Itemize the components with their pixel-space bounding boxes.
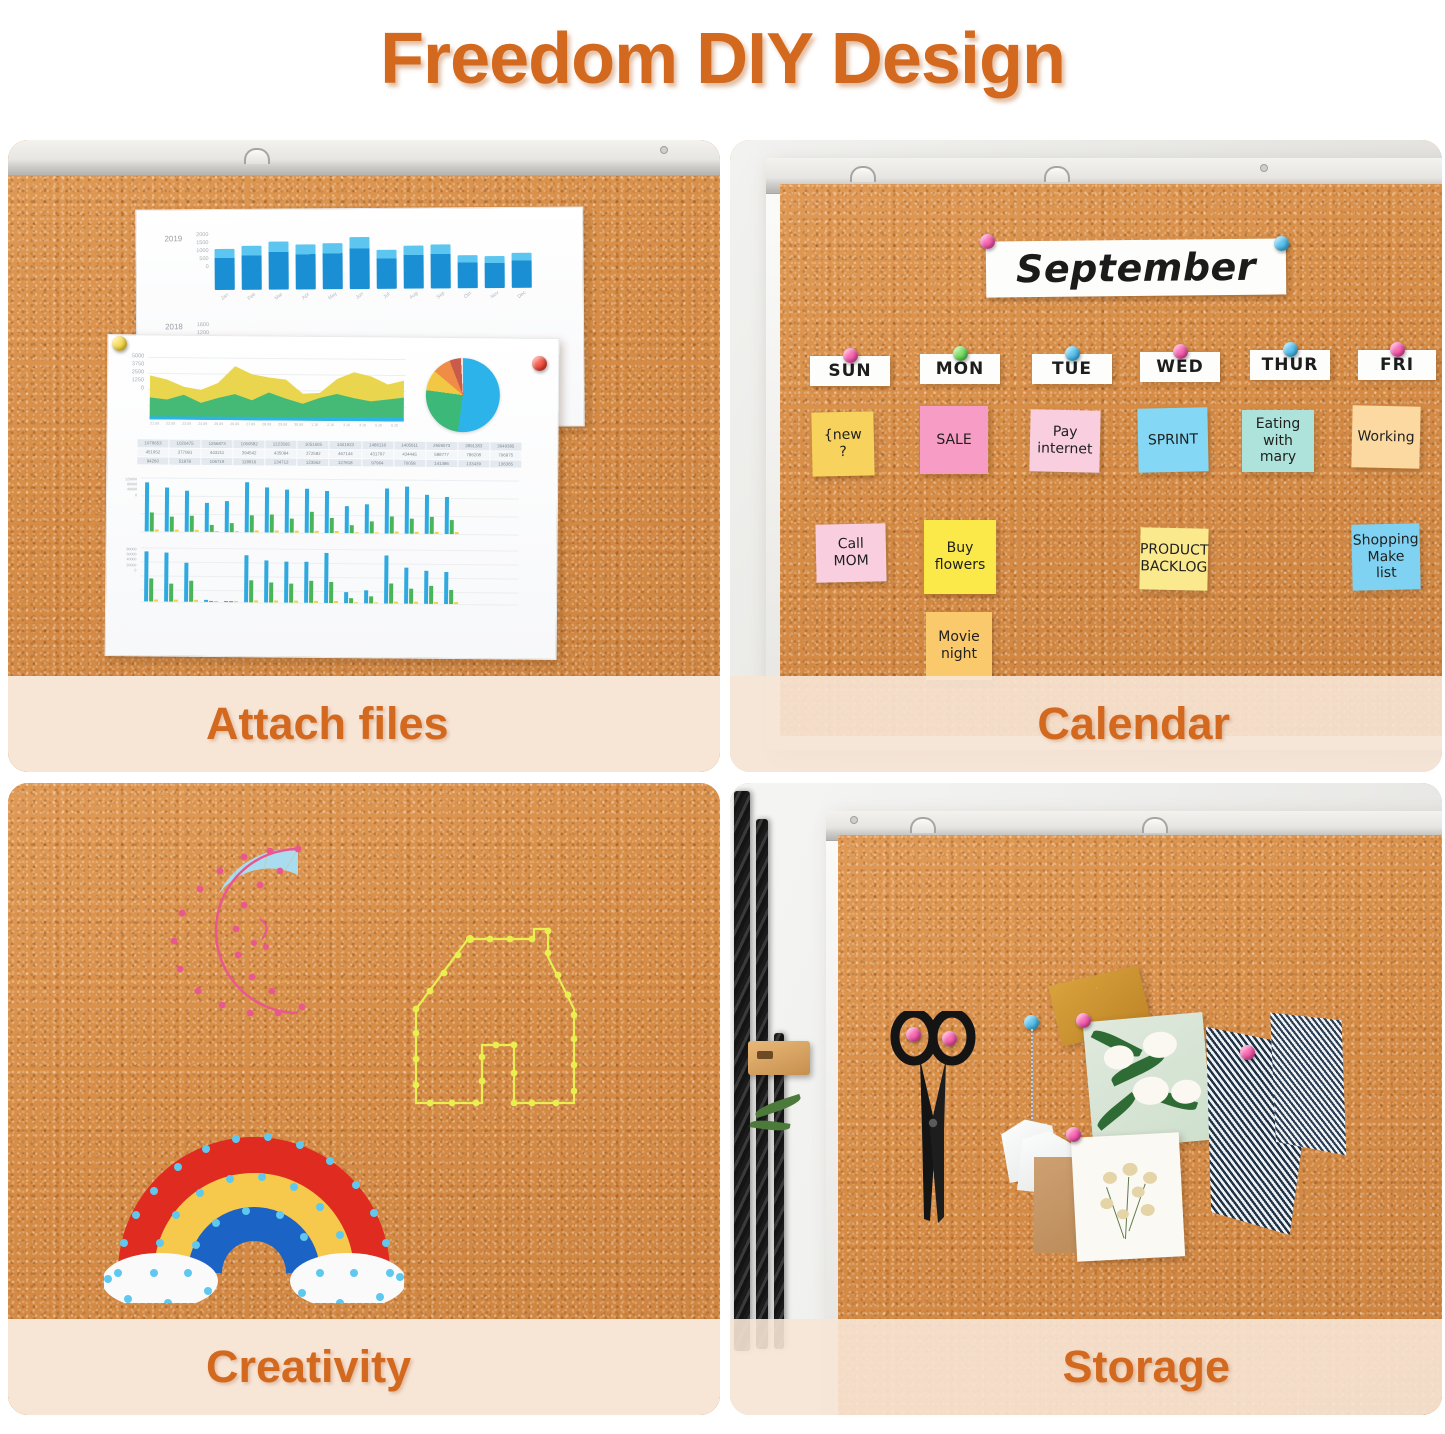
- bar-yellow: [274, 600, 278, 602]
- bar-group-21.09: [145, 482, 159, 531]
- note-line: Movie: [938, 629, 979, 646]
- bar-blue: [305, 489, 309, 533]
- bar-group-4.10: [404, 568, 418, 604]
- bar-green: [229, 601, 233, 602]
- frame-screw-icon: [850, 816, 858, 824]
- blue-pin[interactable]: [1283, 342, 1298, 357]
- bar-group-22.09: [165, 488, 179, 532]
- month-tick: Feb: [242, 288, 261, 305]
- bar-green: [270, 514, 274, 532]
- bar-yellow: [394, 602, 398, 604]
- table-cell: 786208: [458, 451, 489, 459]
- bar-group-27.09: [265, 487, 279, 532]
- house-string-art[interactable]: [406, 923, 586, 1123]
- bar-blue: [384, 555, 388, 603]
- note-line: SALE: [936, 432, 971, 449]
- bar-blue: [184, 563, 188, 602]
- table-cell: 127818: [330, 459, 361, 467]
- bar-yellow: [314, 601, 318, 603]
- bar-green: [389, 584, 393, 604]
- bar-green: [309, 581, 313, 603]
- bar-group-6.10: [445, 497, 459, 534]
- bar-yellow: [254, 600, 258, 603]
- bar-Mar: [268, 242, 288, 290]
- month-tick: Sep: [431, 287, 450, 304]
- bar-blue: [145, 482, 149, 531]
- table-cell: 2659073: [426, 442, 457, 450]
- month-tick: May: [323, 288, 342, 305]
- pink-pin[interactable]: [1076, 1013, 1091, 1028]
- bar-blue: [385, 488, 389, 533]
- bar-yellow: [395, 532, 399, 534]
- table-cell: 123562: [298, 458, 329, 466]
- table-cell: 394542: [234, 449, 265, 457]
- bar-blue: [285, 490, 289, 533]
- table-cell: 136365: [490, 460, 521, 468]
- hanging-clip-icon: [1044, 166, 1070, 182]
- blue-pin[interactable]: [1024, 1015, 1039, 1030]
- note-line: SPRINT: [1148, 431, 1199, 449]
- sticky-note[interactable]: {new?: [811, 411, 874, 476]
- table-cell: 467144: [330, 450, 361, 458]
- bar-group-24.09: [205, 503, 219, 532]
- table-cell: 106719: [201, 457, 232, 465]
- sticky-note[interactable]: ShoppingMake list: [1351, 523, 1420, 590]
- bar-green: [169, 584, 173, 602]
- pink-pin[interactable]: [1240, 1045, 1255, 1060]
- chart-2019-title: 2019: [164, 234, 182, 243]
- bar-group-30.09: [325, 491, 339, 533]
- bar-green: [310, 512, 314, 533]
- month-tick: Jun: [350, 287, 369, 304]
- table-cell: 2891283: [458, 442, 489, 450]
- bar-blue: [345, 506, 349, 534]
- frame-screw-icon: [660, 146, 668, 154]
- bar-yellow: [195, 530, 199, 532]
- sticky-note[interactable]: SALE: [920, 406, 988, 474]
- month-title-card[interactable]: September: [986, 238, 1287, 297]
- bar-group-1.10: [344, 592, 358, 603]
- caption-text: Storage: [1062, 1341, 1230, 1393]
- bar-green: [330, 518, 334, 533]
- caption-storage: Storage: [730, 1319, 1442, 1415]
- bar-yellow: [255, 530, 259, 533]
- bar-blue: [264, 560, 268, 602]
- bar-green: [369, 596, 373, 603]
- note-line: internet: [1037, 440, 1093, 458]
- bar-group-21.09: [144, 551, 158, 601]
- caption-text: Calendar: [1037, 698, 1230, 750]
- bar-Oct: [458, 255, 478, 288]
- bar-green: [290, 519, 294, 533]
- bar-Dec: [512, 253, 532, 288]
- bar-blue: [164, 553, 168, 602]
- bar-yellow: [415, 532, 419, 534]
- table-cell: 134713: [266, 458, 297, 466]
- table-cell: 431797: [362, 450, 393, 458]
- bar-green: [190, 516, 194, 532]
- bar-yellow: [154, 599, 158, 602]
- sticky-note[interactable]: Eatingwith mary: [1242, 410, 1314, 472]
- table-cell: 1020475: [170, 440, 201, 448]
- table-cell: 1051505: [298, 441, 329, 449]
- month-tick: Aug: [404, 287, 423, 304]
- bar-yellow: [315, 530, 319, 533]
- bar-green: [429, 586, 433, 604]
- bar-yellow: [215, 530, 219, 532]
- chart-2018-title: 2018: [165, 322, 183, 331]
- bar-green: [189, 581, 193, 602]
- bar-yellow: [355, 532, 359, 534]
- bar-blue: [204, 600, 208, 602]
- bar-green: [329, 582, 333, 603]
- bar-Jul: [377, 250, 397, 289]
- bar-group-3.10: [384, 555, 398, 603]
- blue-pin[interactable]: [1274, 236, 1289, 251]
- month-tick: Mar: [269, 288, 288, 305]
- table-cell: 1050582: [234, 440, 265, 448]
- bar-yellow: [455, 532, 459, 534]
- table-cell: 1079653: [137, 439, 168, 447]
- table-cell: 451952: [137, 448, 168, 456]
- bar-group-28.09: [284, 562, 298, 603]
- bar-yellow: [374, 602, 378, 604]
- pink-pin[interactable]: [942, 1031, 957, 1046]
- note-line: ?: [839, 444, 847, 461]
- month-tick: Nov: [485, 286, 504, 303]
- bar-Jun: [349, 237, 369, 289]
- grouped-chart-b-yaxis: 800006000040000200000: [114, 547, 136, 573]
- sticky-note[interactable]: Payinternet: [1029, 409, 1100, 472]
- bar-yellow: [434, 602, 438, 604]
- bar-green: [370, 521, 374, 533]
- pink-pin[interactable]: [1173, 344, 1188, 359]
- caption-calendar: Calendar: [730, 676, 1442, 772]
- sticky-note[interactable]: Working: [1351, 405, 1420, 468]
- bar-group-23.09: [185, 491, 199, 532]
- table-cell: 377081: [169, 448, 200, 456]
- bar-yellow: [295, 531, 299, 533]
- bar-blue: [425, 495, 429, 534]
- hanging-clip-icon: [244, 148, 270, 164]
- caption-text: Attach files: [206, 698, 449, 750]
- bar-green: [289, 584, 293, 603]
- area-chart: [148, 353, 407, 421]
- document-analytics-report[interactable]: 50003750250012500 21.0922.09 23.0924.09 …: [105, 334, 560, 660]
- board-frame: September SUNMONTUEWEDTHURFRISA {new?SAL…: [766, 158, 1442, 750]
- header: Freedom DIY Design: [0, 0, 1445, 118]
- bar-yellow: [275, 531, 279, 533]
- bar-blue: [205, 503, 209, 532]
- chart-2019-yaxis: 2000150010005000: [184, 232, 208, 272]
- bar-green: [350, 525, 354, 533]
- bar-yellow: [235, 531, 239, 533]
- bar-group-5.10: [424, 571, 438, 604]
- table-cell: 1486118: [362, 441, 393, 449]
- caption-text: Creativity: [206, 1341, 411, 1393]
- bar-yellow: [354, 602, 358, 604]
- month-tick: Jan: [215, 288, 234, 305]
- bar-green: [230, 523, 234, 532]
- hanging-clip-icon: [1142, 817, 1168, 833]
- note-line: Buy: [947, 540, 974, 557]
- bar-blue: [404, 568, 408, 604]
- bar-green: [430, 517, 434, 534]
- hanging-clip-icon: [850, 166, 876, 182]
- note-line: night: [941, 646, 977, 663]
- chart-2019-bars: [214, 230, 531, 290]
- table-cell: 133439: [458, 460, 489, 468]
- bar-group-29.09: [305, 489, 319, 533]
- bar-blue: [144, 551, 148, 601]
- table-cell: 372582: [298, 449, 329, 457]
- pink-pin[interactable]: [906, 1027, 921, 1042]
- bar-green: [170, 517, 174, 532]
- bar-yellow: [435, 532, 439, 534]
- sticky-note[interactable]: CallMOM: [815, 523, 886, 582]
- table-cell: 434445: [394, 450, 425, 458]
- bar-green: [390, 517, 394, 534]
- yellow-pin[interactable]: [112, 336, 127, 351]
- note-line: Eating: [1256, 416, 1301, 433]
- analytics-table: 1079653102047512568731050582122356510515…: [137, 439, 521, 468]
- pink-pin[interactable]: [843, 348, 858, 363]
- bar-green: [349, 598, 353, 603]
- bar-Apr: [295, 245, 315, 290]
- panel-calendar[interactable]: September SUNMONTUEWEDTHURFRISA {new?SAL…: [730, 140, 1442, 772]
- scissors-icon[interactable]: [890, 1011, 976, 1241]
- note-line: flowers: [935, 557, 986, 574]
- bar-blue: [244, 555, 248, 602]
- bar-blue: [364, 590, 368, 603]
- pink-pin[interactable]: [980, 234, 995, 249]
- bar-Aug: [403, 246, 423, 289]
- bar-group-3.10: [385, 488, 399, 533]
- bar-blue: [324, 553, 328, 603]
- red-pin[interactable]: [532, 356, 547, 371]
- bar-blue: [424, 571, 428, 604]
- panel-attach-files[interactable]: 2019 2000150010005000 JanFebMarAprMayJun…: [8, 140, 720, 772]
- bar-yellow: [174, 600, 178, 602]
- bar-group-6.10: [444, 572, 458, 604]
- grouped-chart-b: [140, 547, 518, 606]
- bar-green: [210, 525, 214, 532]
- grouped-chart-a: [141, 477, 519, 536]
- bar-green: [250, 515, 254, 532]
- bar-group-24.09: [204, 600, 218, 602]
- area-chart-xaxis: 21.0922.09 23.0924.09 25.0926.09 27.0928…: [148, 421, 402, 427]
- moon-string-art[interactable]: [148, 831, 348, 1031]
- chart-2019-xaxis: JanFebMarAprMayJunJulAugSepOctNovDec: [215, 292, 532, 300]
- bar-blue: [344, 592, 348, 603]
- note-line: Make list: [1356, 548, 1417, 582]
- bar-blue: [245, 482, 249, 532]
- bar-yellow: [335, 531, 339, 533]
- table-cell: 796875: [490, 451, 521, 459]
- bar-group-5.10: [425, 495, 439, 534]
- note-line: Pay: [1053, 424, 1078, 441]
- rainbow-string-art[interactable]: [104, 1103, 404, 1303]
- hanging-clip-icon: [910, 817, 936, 833]
- pressed-flower-card[interactable]: [1071, 1132, 1185, 1261]
- bar-yellow: [155, 529, 159, 531]
- note-line: MOM: [833, 553, 869, 570]
- bar-green: [409, 589, 413, 604]
- bar-blue: [225, 501, 229, 532]
- sticky-note[interactable]: SPRINT: [1137, 407, 1208, 472]
- bar-green: [150, 512, 154, 531]
- bar-blue: [365, 504, 369, 533]
- bar-blue: [445, 497, 449, 534]
- caption-creativity: Creativity: [8, 1319, 720, 1415]
- table-cell: 1405611: [394, 442, 425, 450]
- sticky-note[interactable]: Buyflowers: [924, 520, 996, 594]
- panel-storage[interactable]: Storage: [730, 783, 1442, 1415]
- bar-group-25.09: [224, 601, 238, 603]
- table-cell: 70058: [394, 459, 425, 467]
- panel-grid: 2019 2000150010005000 JanFebMarAprMayJun…: [8, 140, 1437, 1426]
- sticky-note[interactable]: PRODUCTBACKLOG: [1139, 527, 1208, 590]
- pink-pin[interactable]: [1066, 1127, 1081, 1142]
- panel-creativity[interactable]: Creativity: [8, 783, 720, 1415]
- month-tick: Apr: [296, 288, 315, 305]
- bar-yellow: [294, 601, 298, 603]
- bar-group-26.09: [245, 482, 259, 532]
- bar-blue: [265, 487, 269, 532]
- table-cell: 141386: [426, 459, 457, 467]
- blue-pin[interactable]: [1065, 346, 1080, 361]
- bar-green: [149, 578, 153, 601]
- bar-yellow: [334, 601, 338, 604]
- bar-green: [269, 582, 273, 602]
- bar-group-23.09: [184, 563, 198, 602]
- sticky-note[interactable]: Movienight: [926, 612, 992, 680]
- striped-cloth[interactable]: [1262, 1005, 1355, 1162]
- bar-Nov: [485, 256, 505, 288]
- bar-yellow: [454, 602, 458, 604]
- table-cell: 97964: [362, 459, 393, 467]
- note-line: {new: [824, 427, 862, 444]
- bar-Sep: [430, 245, 450, 289]
- floral-card[interactable]: [1083, 1012, 1214, 1150]
- bar-May: [322, 243, 342, 289]
- note-line: Working: [1357, 428, 1414, 446]
- bar-blue: [224, 601, 228, 603]
- bar-group-1.10: [345, 506, 359, 534]
- pie-chart: [426, 358, 501, 433]
- grouped-chart-a-yaxis: 12000080000400000: [115, 477, 137, 498]
- bar-Jan: [215, 249, 235, 290]
- table-cell: 1256873: [202, 440, 233, 448]
- bar-yellow: [375, 532, 379, 534]
- bar-yellow: [194, 600, 198, 602]
- table-cell: 443211: [202, 449, 233, 457]
- bar-yellow: [175, 530, 179, 532]
- bar-yellow: [214, 601, 218, 602]
- bar-group-26.09: [244, 555, 258, 602]
- cork-surface: September SUNMONTUEWEDTHURFRISA {new?SAL…: [780, 184, 1442, 736]
- note-line: with mary: [1246, 433, 1310, 466]
- table-cell: 3049385: [490, 442, 521, 450]
- month-tick: Jul: [377, 287, 396, 304]
- month-label: September: [1016, 245, 1257, 292]
- bar-group-28.09: [285, 490, 299, 533]
- ball-chain: [1031, 1029, 1033, 1127]
- bar-blue: [284, 562, 288, 603]
- table-cell: 118916: [234, 458, 265, 466]
- month-tick: Oct: [458, 287, 477, 304]
- note-line: BACKLOG: [1140, 558, 1207, 576]
- bar-group-4.10: [405, 487, 419, 534]
- bar-Feb: [241, 246, 261, 290]
- note-line: PRODUCT: [1140, 542, 1209, 560]
- green-pin[interactable]: [953, 346, 968, 361]
- bar-group-27.09: [264, 560, 278, 602]
- bar-yellow: [234, 601, 238, 602]
- bar-group-29.09: [304, 562, 318, 603]
- note-line: Shopping: [1353, 532, 1419, 550]
- table-cell: 51878: [169, 457, 200, 465]
- bar-yellow: [414, 602, 418, 604]
- board-frame-top: [8, 140, 720, 176]
- bar-group-30.09: [324, 553, 338, 603]
- bar-blue: [165, 488, 169, 532]
- note-line: Call: [838, 536, 864, 553]
- area-chart-yaxis: 50003750250012500: [118, 353, 144, 393]
- bar-blue: [325, 491, 329, 533]
- table-cell: 94260: [137, 457, 168, 465]
- bar-green: [249, 580, 253, 602]
- pink-pin[interactable]: [1390, 342, 1405, 357]
- bar-group-2.10: [365, 504, 379, 533]
- bar-blue: [304, 562, 308, 603]
- bar-green: [449, 590, 453, 604]
- frame-screw-icon: [1260, 164, 1268, 172]
- black-rod: [756, 819, 768, 1349]
- bar-group-22.09: [164, 553, 178, 602]
- table-cell: 435084: [266, 449, 297, 457]
- bar-blue: [405, 487, 409, 534]
- bar-blue: [185, 491, 189, 532]
- table-cell: 1401923: [330, 441, 361, 449]
- bar-green: [450, 520, 454, 534]
- month-tick: Dec: [512, 286, 531, 303]
- wood-shelf-block: [748, 1041, 810, 1075]
- bar-group-25.09: [225, 501, 239, 532]
- bar-green: [209, 601, 213, 602]
- page-title: Freedom DIY Design: [380, 18, 1065, 100]
- bar-blue: [444, 572, 448, 604]
- caption-attach-files: Attach files: [8, 676, 720, 772]
- black-rod: [774, 1033, 784, 1349]
- table-cell: 1223565: [266, 440, 297, 448]
- bar-green: [410, 519, 414, 534]
- bar-group-2.10: [364, 590, 378, 603]
- table-cell: 588777: [426, 451, 457, 459]
